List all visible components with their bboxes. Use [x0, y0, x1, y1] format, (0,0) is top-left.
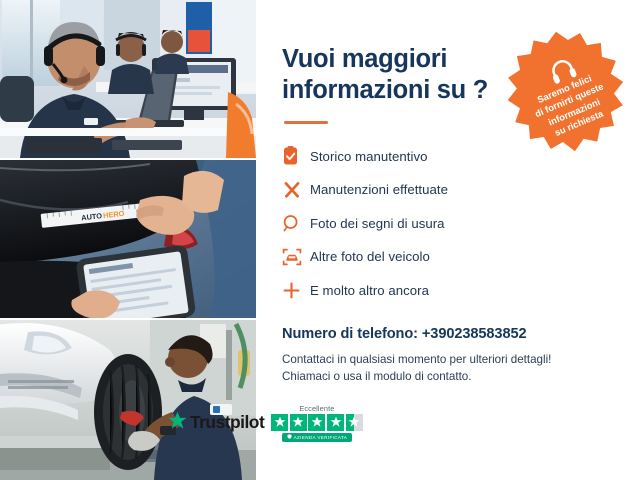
list-item-label: E molto altro ancora: [310, 283, 429, 298]
contact-info-banner: AUTO HERO: [0, 0, 640, 480]
star-filled: [290, 414, 307, 431]
star-filled: [308, 414, 325, 431]
list-item-label: Manutenzioni effettuate: [310, 182, 448, 197]
trustpilot-logo: Trustpilot: [168, 411, 264, 435]
star-filled: [327, 414, 344, 431]
list-item-label: Foto dei segni di usura: [310, 216, 445, 231]
phone-number[interactable]: Numero di telefono: +390238583852: [282, 326, 614, 342]
phone-block: Numero di telefono: +390238583852 Contat…: [282, 326, 614, 385]
trustpilot-widget[interactable]: Trustpilot Eccellente: [168, 404, 363, 442]
trustpilot-star-icon: [168, 411, 187, 435]
mechanic-tire-check-photo: [0, 320, 256, 480]
call-center-agents-photo: [0, 0, 256, 158]
star-filled: [271, 414, 288, 431]
star-half: [346, 414, 363, 431]
rating-label: Eccellente: [299, 404, 334, 413]
status-badge: AZIENDA VERIFICATA: [282, 433, 353, 442]
trustpilot-rating: Eccellente: [271, 404, 362, 442]
clipboard-check-icon: [282, 145, 310, 167]
car-scan-frame-icon: [282, 246, 310, 268]
magnifier-icon: [282, 212, 310, 234]
phone-subtext-line-2: Chiamaci o usa il modulo di contatto.: [282, 368, 614, 385]
vehicle-inspection-photo: AUTO HERO: [0, 160, 256, 318]
list-item: Foto dei segni di usura: [282, 209, 614, 237]
plus-icon: [282, 279, 310, 301]
accent-divider: [284, 121, 328, 124]
phone-subtext: Contattaci in qualsiasi momento per ulte…: [282, 351, 614, 385]
headline-line-2: informazioni su ?: [282, 76, 488, 104]
status-badge-label: AZIENDA VERIFICATA: [294, 435, 348, 440]
shield-check-icon: [287, 434, 292, 440]
request-info-badge: Saremo felici di fornirti queste informa…: [494, 20, 637, 163]
feature-list: Storico manutentivo Manutenzioni effettu…: [282, 142, 614, 304]
list-item: Altre foto del veicolo: [282, 243, 614, 271]
star-rating: [271, 414, 362, 431]
list-item: E molto altro ancora: [282, 276, 614, 304]
list-item: Manutenzioni effettuate: [282, 176, 614, 204]
trustpilot-wordmark: Trustpilot: [190, 412, 264, 433]
tools-cross-icon: [282, 179, 310, 201]
headline-line-1: Vuoi maggiori: [282, 45, 447, 73]
phone-subtext-line-1: Contattaci in qualsiasi momento per ulte…: [282, 351, 614, 368]
list-item-label: Altre foto del veicolo: [310, 249, 430, 264]
list-item-label: Storico manutentivo: [310, 149, 428, 164]
page-title: Vuoi maggiori informazioni su ?: [282, 44, 522, 106]
